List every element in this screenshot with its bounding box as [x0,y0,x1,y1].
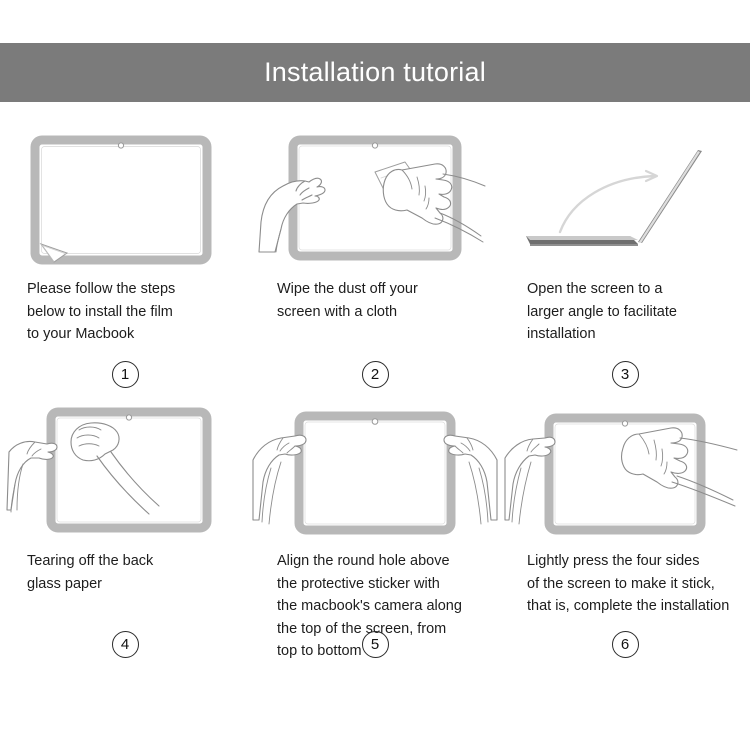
step-number-badge: 3 [612,361,639,388]
step-6-illustration [514,402,736,542]
step-number-badge: 2 [362,361,389,388]
screen-with-peeling-film-corner-icon [27,132,223,268]
header-banner: Installation tutorial [0,43,750,102]
step-1-number-wrap: 1 [0,361,250,388]
step-card-4: Tearing off the back glass paper 4 [0,402,250,674]
step-card-1: Please follow the steps below to install… [0,130,250,402]
step-5-illustration [264,402,486,542]
step-4-number-wrap: 4 [0,631,250,658]
step-1-illustration [14,130,236,270]
step-4-caption: Tearing off the back glass paper [14,550,236,595]
steps-grid: Please follow the steps below to install… [0,130,750,674]
step-card-6: Lightly press the four sides of the scre… [500,402,750,674]
step-number-badge: 1 [112,361,139,388]
step-2-illustration [264,130,486,270]
step-2-number-wrap: 2 [250,361,500,388]
page-title: Installation tutorial [264,57,486,88]
step-1-caption: Please follow the steps below to install… [14,278,236,346]
step-number-badge: 4 [112,631,139,658]
two-hands-aligning-film-on-screen-icon [253,402,497,542]
step-number-badge: 6 [612,631,639,658]
laptop-opening-angle-arrow-icon [512,132,738,268]
step-card-5: Align the round hole above the protectiv… [250,402,500,674]
step-6-caption: Lightly press the four sides of the scre… [514,550,736,618]
hand-wiping-screen-with-cloth-icon [257,130,493,270]
two-hands-peeling-back-paper-icon [7,402,243,542]
hand-pressing-screen-edges-icon [505,402,745,542]
step-6-number-wrap: 6 [500,631,750,658]
step-card-3: Open the screen to a larger angle to fac… [500,130,750,402]
step-card-2: Wipe the dust off your screen with a clo… [250,130,500,402]
step-2-caption: Wipe the dust off your screen with a clo… [264,278,486,323]
step-5-number-wrap: 5 [250,631,500,658]
step-3-caption: Open the screen to a larger angle to fac… [514,278,736,346]
step-number-badge: 5 [362,631,389,658]
step-3-illustration [514,130,736,270]
step-3-number-wrap: 3 [500,361,750,388]
step-4-illustration [14,402,236,542]
